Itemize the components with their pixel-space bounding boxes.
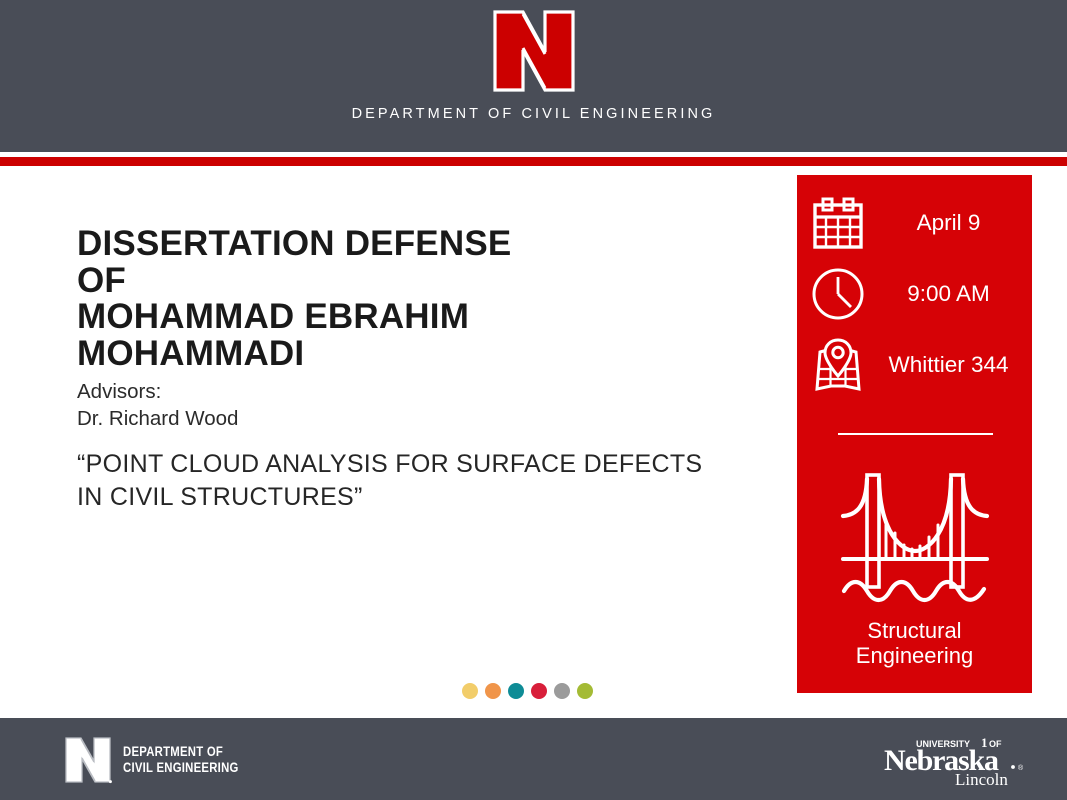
event-location-value: Whittier 344 <box>879 351 1032 379</box>
event-flyer-slide: DEPARTMENT OF CIVIL ENGINEERING DISSERTA… <box>0 0 1067 800</box>
university-of-nebraska-lincoln-logo-icon: UNIVERSITY 1 OF Nebraska ® Lincoln <box>884 736 1029 786</box>
map-pin-icon <box>797 336 879 394</box>
dot-red <box>531 683 547 699</box>
footer-department-line-2: CIVIL ENGINEERING <box>123 760 239 776</box>
dot-yellow <box>462 683 478 699</box>
event-details-panel: April 9 9:00 AM <box>797 175 1032 693</box>
dot-teal <box>508 683 524 699</box>
footer-bar: DEPARTMENT OF CIVIL ENGINEERING UNIVERSI… <box>0 718 1067 800</box>
calendar-icon <box>797 196 879 250</box>
event-date-value: April 9 <box>879 209 1032 237</box>
decorative-dot-row <box>462 683 593 699</box>
suspension-bridge-icon <box>840 467 990 607</box>
page-title-line-1: DISSERTATION DEFENSE <box>77 226 717 263</box>
footer-department-line-1: DEPARTMENT OF <box>123 744 239 760</box>
advisors-label: Advisors: <box>77 378 717 405</box>
event-detail-time: 9:00 AM <box>797 261 1032 327</box>
panel-divider <box>838 433 993 435</box>
svg-text:Lincoln: Lincoln <box>955 770 1008 786</box>
event-time-value: 9:00 AM <box>879 280 1032 308</box>
svg-text:®: ® <box>1018 764 1024 772</box>
clock-icon <box>797 266 879 322</box>
header-red-accent-rule <box>0 157 1067 166</box>
discipline-line-1: Structural <box>797 618 1032 643</box>
header-bar: DEPARTMENT OF CIVIL ENGINEERING <box>0 0 1067 152</box>
dot-gray <box>554 683 570 699</box>
discipline-label: Structural Engineering <box>797 618 1032 668</box>
dissertation-title: “POINT CLOUD ANALYSIS FOR SURFACE DEFECT… <box>77 448 717 513</box>
event-detail-location: Whittier 344 <box>797 332 1032 398</box>
discipline-line-2: Engineering <box>797 643 1032 668</box>
header-department-label: DEPARTMENT OF CIVIL ENGINEERING <box>0 106 1067 122</box>
page-title-line-3: MOHAMMAD EBRAHIM <box>77 299 717 336</box>
event-detail-date: April 9 <box>797 190 1032 256</box>
footer-department-logo: DEPARTMENT OF CIVIL ENGINEERING <box>64 735 261 785</box>
page-title-line-4: MOHAMMADI <box>77 336 717 373</box>
nebraska-n-logo-icon <box>64 735 112 785</box>
dot-green <box>577 683 593 699</box>
advisors-block: Advisors: Dr. Richard Wood <box>77 378 717 432</box>
footer-department-text: DEPARTMENT OF CIVIL ENGINEERING <box>123 744 239 776</box>
main-content: DISSERTATION DEFENSE OF MOHAMMAD EBRAHIM… <box>77 226 717 513</box>
advisor-name-1: Dr. Richard Wood <box>77 405 717 432</box>
nebraska-n-logo-icon <box>493 8 575 94</box>
dot-orange <box>485 683 501 699</box>
page-title-line-2: OF <box>77 263 717 300</box>
